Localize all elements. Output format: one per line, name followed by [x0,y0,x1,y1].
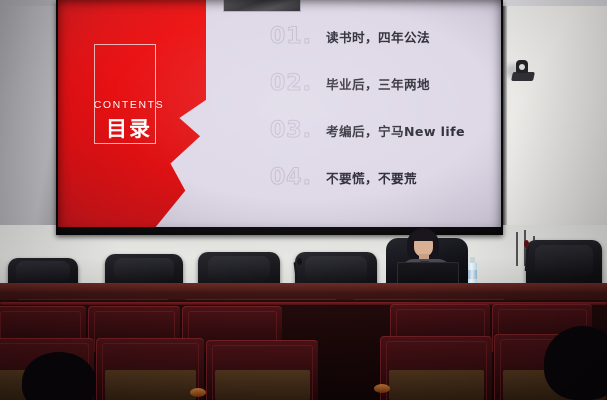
audience-seat [96,338,204,400]
agenda-item-text: 考编后，宁马New life [326,121,465,140]
agenda-item-number: 04. [270,165,312,190]
seat-cup-holder [374,384,390,393]
water-bottle-cap [470,257,475,263]
left-wall [0,0,60,262]
agenda-item-number: 01. [270,24,312,49]
agenda-item-text: 读书时，四年公法 [326,27,430,46]
agenda-item: 04. 不要慌，不要荒 [270,159,495,206]
audience-head-silhouette [544,326,607,400]
agenda-item-text: 毕业后，三年两地 [326,74,430,93]
seat-cushion [215,370,310,400]
agenda-item-text: 不要慌，不要荒 [326,168,417,187]
slide-agenda-list: 01. 读书时，四年公法 02. 毕业后，三年两地 03. 考编后，宁马New … [270,18,495,206]
microphone-head [297,258,302,265]
lecture-hall-scene: CONTENTS 目录 01. 读书时，四年公法 02. 毕业后，三年两地 03… [0,0,607,400]
audience-seat [206,340,318,400]
presentation-slide: CONTENTS 目录 01. 读书时，四年公法 02. 毕业后，三年两地 03… [58,0,501,227]
agenda-item: 02. 毕业后，三年两地 [270,65,495,112]
agenda-item-number: 02. [270,71,312,96]
presenter-fringe [411,231,436,241]
projection-screen-frame: CONTENTS 目录 01. 读书时，四年公法 02. 毕业后，三年两地 03… [56,0,503,235]
camera-lens [519,64,525,70]
seat-cushion [389,370,484,400]
agenda-item: 01. 读书时，四年公法 [270,18,495,65]
slide-photo-thumbnail [223,0,301,12]
slide-contents-label-en: CONTENTS [89,99,169,111]
audience-seat [380,336,492,400]
agenda-item: 03. 考编后，宁马New life [270,112,495,159]
right-wall [505,0,607,250]
stand-pole [516,232,518,266]
microphone-head [524,240,529,248]
wall-camera-icon [512,60,534,90]
slide-contents-label-cn: 目录 [89,113,169,143]
seat-cup-holder [190,388,206,397]
agenda-item-number: 03. [270,118,312,143]
seat-cushion [105,370,196,400]
camera-mount [511,72,535,81]
water-bottle-label [468,270,477,279]
audience-seating [0,300,607,400]
